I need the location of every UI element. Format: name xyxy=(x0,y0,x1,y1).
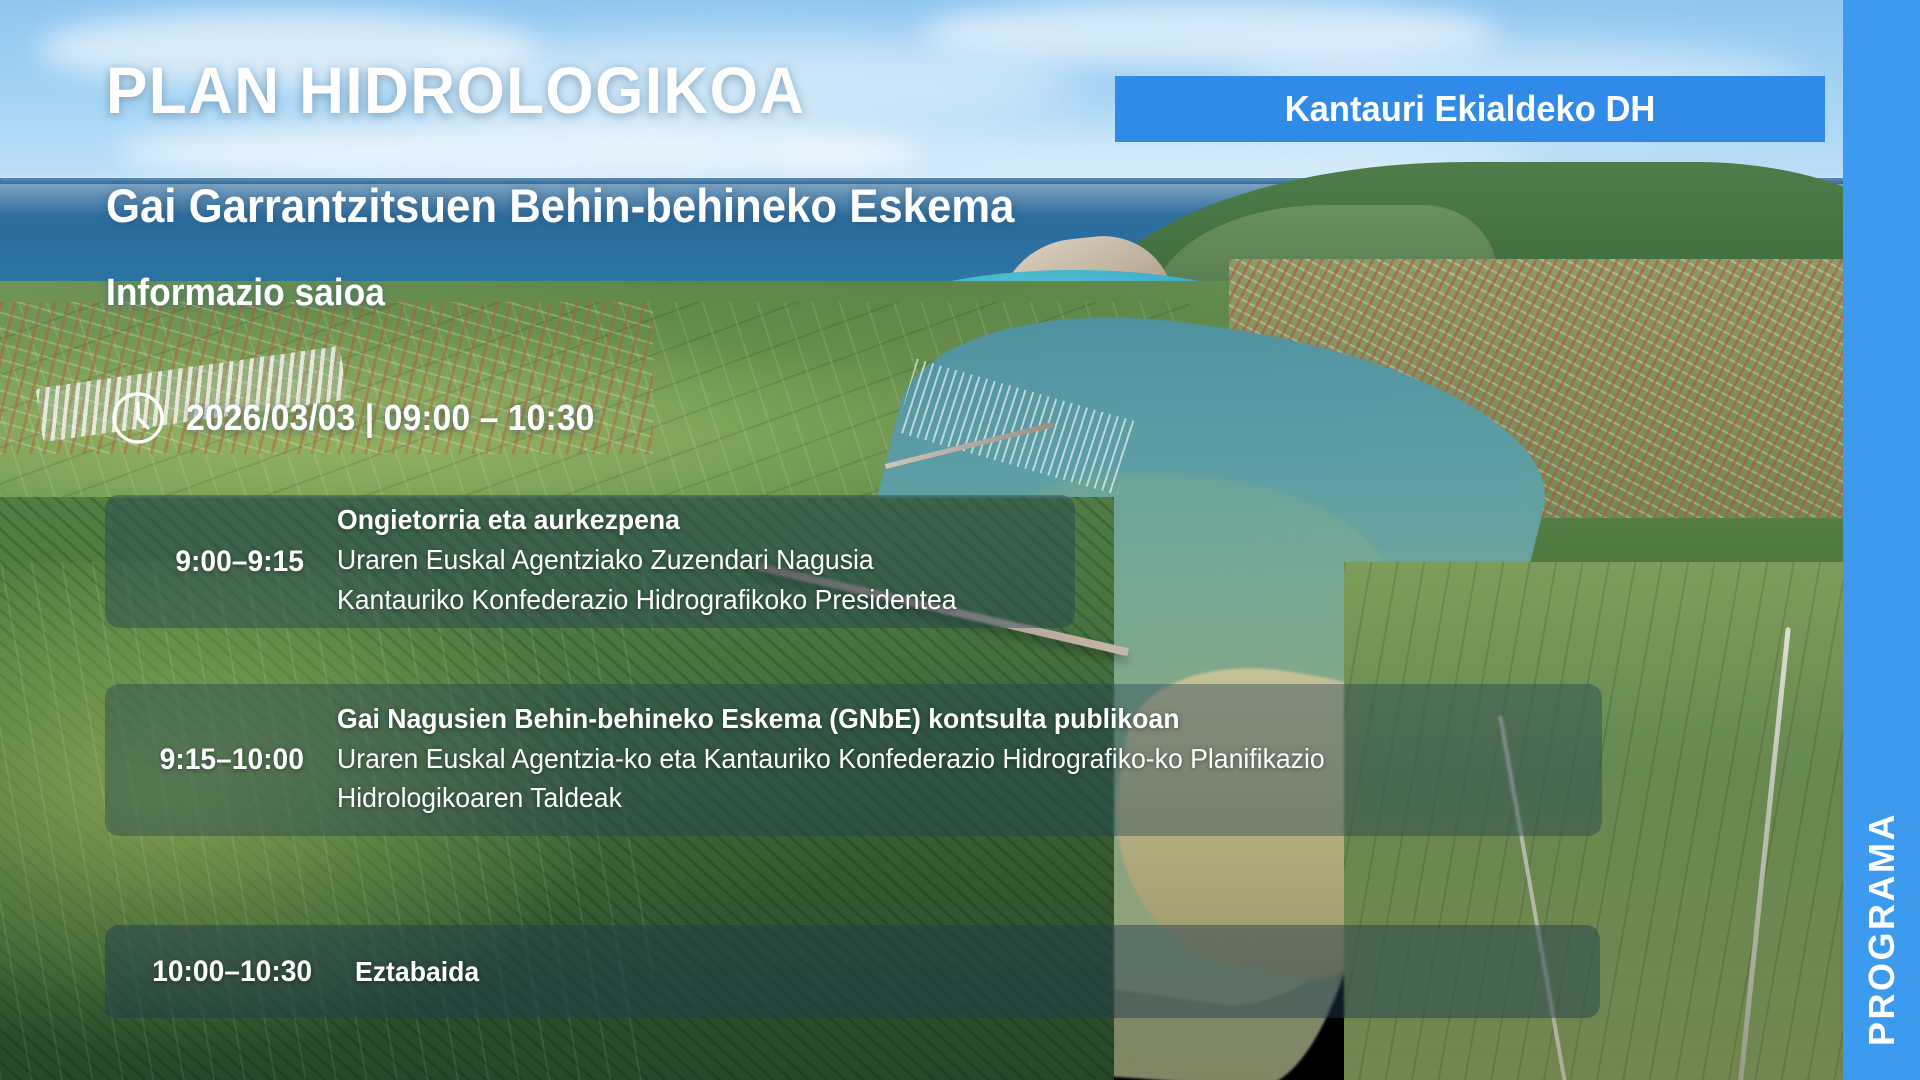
agenda-item: 9:15–10:00 Gai Nagusien Behin-behineko E… xyxy=(105,684,1602,836)
agenda-item-headline: Ongietorria eta aurkezpena xyxy=(337,504,1038,536)
agenda-item-headline: Gai Nagusien Behin-behineko Eskema (GNbE… xyxy=(337,703,1539,735)
agenda-item-body: Ongietorria eta aurkezpena Uraren Euskal… xyxy=(309,504,1075,618)
agenda-item-detail-line: Uraren Euskal Agentzia-ko eta Kantauriko… xyxy=(337,739,1539,778)
slide-root: PLAN HIDROLOGIKOA Kantauri Ekialdeko DH … xyxy=(0,0,1920,1080)
program-sidebar-label: PROGRAMA xyxy=(1861,812,1903,1046)
program-sidebar: PROGRAMA xyxy=(1843,0,1920,1080)
agenda-item-detail-line: Kantauriko Konfederazio Hidrografikoko P… xyxy=(337,580,1038,619)
page-subtitle: Gai Garrantzitsuen Behin-behineko Eskema xyxy=(106,178,1014,233)
datetime-text: 2026/03/03 | 09:00 – 10:30 xyxy=(186,397,594,439)
agenda-item: 9:00–9:15 Ongietorria eta aurkezpena Ura… xyxy=(105,495,1075,628)
agenda-item: 10:00–10:30 Eztabaida xyxy=(105,925,1600,1018)
region-badge-label: Kantauri Ekialdeko DH xyxy=(1285,88,1656,130)
region-badge: Kantauri Ekialdeko DH xyxy=(1115,76,1825,142)
datetime-row: 2026/03/03 | 09:00 – 10:30 xyxy=(110,390,620,446)
agenda-item-body: Eztabaida xyxy=(327,956,1600,988)
agenda-item-headline: Eztabaida xyxy=(355,956,1538,988)
clock-icon xyxy=(110,390,166,446)
agenda-item-detail-line: Hidrologikoaren Taldeak xyxy=(337,778,1539,817)
agenda-item-body: Gai Nagusien Behin-behineko Eskema (GNbE… xyxy=(309,703,1602,817)
agenda-item-time: 9:00–9:15 xyxy=(144,545,304,579)
page-title: PLAN HIDROLOGIKOA xyxy=(106,52,806,128)
agenda-item-time: 9:15–10:00 xyxy=(144,743,304,777)
agenda-item-detail-line: Uraren Euskal Agentziako Zuzendari Nagus… xyxy=(337,540,1038,579)
agenda-item-time: 10:00–10:30 xyxy=(145,955,322,989)
page-kicker: Informazio saioa xyxy=(106,272,385,315)
